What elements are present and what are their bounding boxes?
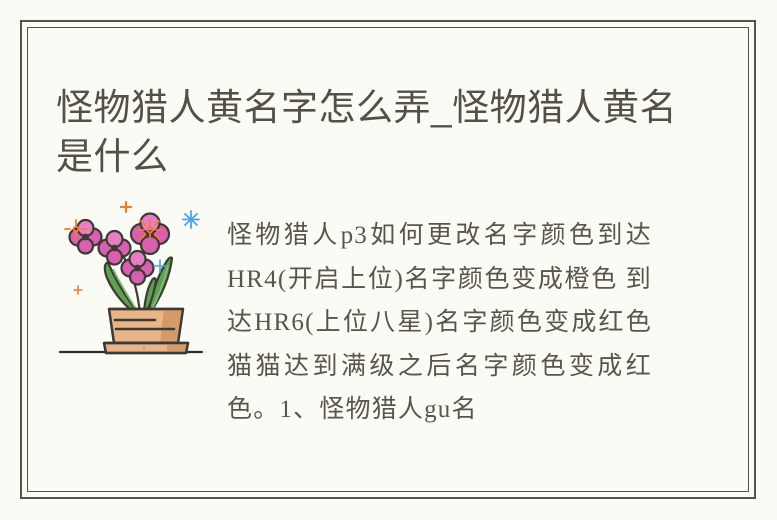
article-body-text: 怪物猎人p3如何更改名字颜色到达HR4(开启上位)名字颜色变成橙色 到达HR6(…: [227, 214, 652, 432]
article-page: 怪物猎人黄名字怎么弄_怪物猎人黄名是什么: [0, 0, 777, 520]
page-title: 怪物猎人黄名字怎么弄_怪物猎人黄名是什么: [56, 83, 696, 181]
orchid-plant-illustration: [52, 196, 212, 364]
flower-pot-icon: [104, 309, 188, 353]
flower-icon: [70, 214, 170, 285]
